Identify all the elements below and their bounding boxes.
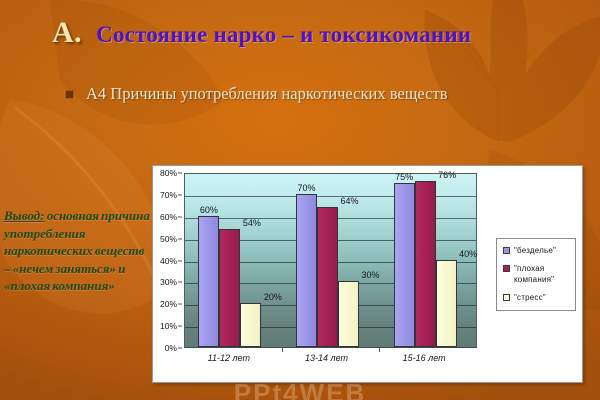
conclusion-text-block: Вывод: основная причина употребления нар…: [4, 207, 150, 295]
bar: [198, 216, 219, 347]
bar: [240, 303, 261, 347]
bar-value-label: 40%: [459, 249, 477, 259]
slide-title: А. Состояние нарко – и токсикомании: [52, 16, 471, 50]
x-axis-label: 15-16 лет: [403, 353, 446, 363]
bar: [296, 194, 317, 347]
legend-label: "плохая компания": [514, 263, 570, 285]
bar: [338, 281, 359, 347]
y-axis-label: 20%: [160, 299, 177, 309]
y-axis-label: 70%: [160, 190, 177, 200]
bar: [436, 260, 457, 348]
chart-legend: "безделье""плохая компания""стресс": [496, 238, 576, 311]
y-axis-label: 80%: [160, 168, 177, 178]
bar: [394, 183, 415, 347]
y-axis-label: 30%: [160, 277, 177, 287]
bar: [317, 207, 338, 347]
bar-value-label: 20%: [264, 292, 282, 302]
y-axis-label: 50%: [160, 234, 177, 244]
bar-value-label: 76%: [438, 170, 456, 180]
legend-swatch: [503, 294, 510, 301]
y-axis-tick: [178, 304, 182, 305]
bar-value-label: 75%: [395, 172, 413, 182]
legend-label: "стресс": [514, 292, 546, 303]
x-axis-tick: [379, 348, 380, 352]
legend-swatch: [503, 247, 510, 254]
y-axis-tick: [178, 216, 182, 217]
bar-value-label: 54%: [243, 218, 261, 228]
legend-item: "стресс": [502, 292, 570, 303]
y-axis-tick: [178, 326, 182, 327]
y-axis: 0%10%20%30%40%50%60%70%80%: [153, 173, 182, 348]
x-axis-label: 11-12 лет: [208, 353, 250, 363]
x-axis: 11-12 лет13-14 лет15-16 лет: [184, 353, 477, 369]
legend-swatch: [503, 265, 510, 272]
y-axis-tick: [178, 238, 182, 239]
bar: [415, 181, 436, 347]
square-bullet-icon: [66, 91, 73, 98]
y-axis-tick: [178, 194, 182, 195]
bullet-text: A4 Причины употребления наркотических ве…: [86, 84, 448, 104]
y-axis-label: 0%: [165, 343, 177, 353]
title-letter: А.: [52, 16, 82, 50]
y-axis-tick: [178, 282, 182, 283]
title-text: Состояние нарко – и токсикомании: [96, 22, 471, 48]
legend-item: "плохая компания": [502, 263, 570, 285]
conclusion-lead: Вывод:: [4, 208, 44, 223]
plot-wrapper: 0%10%20%30%40%50%60%70%80% 60%54%20%70%6…: [184, 173, 477, 348]
y-axis-label: 60%: [160, 212, 177, 222]
bar-value-label: 64%: [340, 196, 358, 206]
y-axis-tick: [178, 260, 182, 261]
legend-label: "безделье": [514, 245, 556, 256]
x-axis-tick: [282, 348, 283, 352]
y-axis-label: 40%: [160, 256, 177, 266]
bar-value-label: 70%: [297, 183, 315, 193]
bar-value-label: 60%: [200, 205, 218, 215]
y-axis-label: 10%: [160, 321, 177, 331]
plot-area: 60%54%20%70%64%30%75%76%40%: [184, 173, 477, 348]
x-axis-label: 13-14 лет: [305, 353, 348, 363]
y-axis-tick: [178, 173, 182, 174]
bar: [219, 229, 240, 347]
legend-item: "безделье": [502, 245, 570, 256]
bar-value-label: 30%: [361, 270, 379, 280]
y-axis-tick: [178, 348, 182, 349]
chart-panel: 0%10%20%30%40%50%60%70%80% 60%54%20%70%6…: [152, 165, 583, 383]
bullet-row: A4 Причины употребления наркотических ве…: [66, 84, 448, 104]
